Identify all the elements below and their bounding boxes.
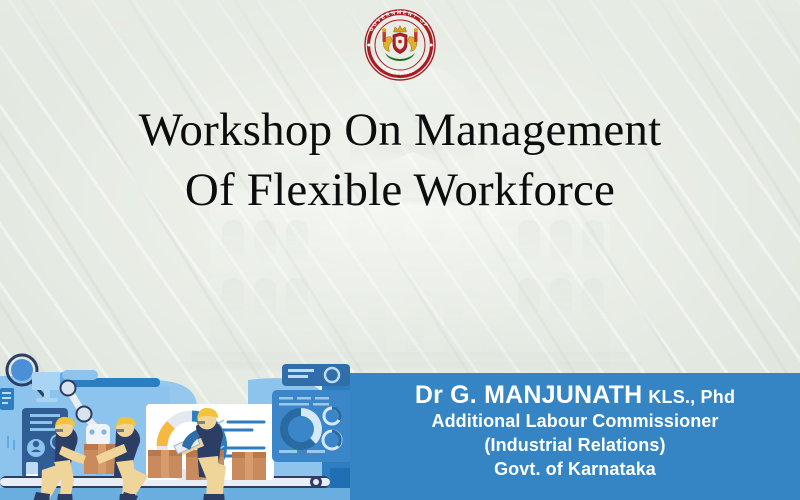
title-line-1: Workshop On Management [0,100,800,160]
industrial-workforce-illustration [0,350,372,500]
speaker-department: (Industrial Relations) [350,434,800,458]
page-title: Workshop On Management Of Flexible Workf… [0,100,800,220]
speaker-name: Dr G. MANJUNATH [415,381,643,409]
speaker-qualifications: KLS., Phd [648,387,735,407]
government-of-karnataka-emblem: GOVERNMENT OF KARNATAKA [355,3,445,81]
speaker-organization: Govt. of Karnataka [350,458,800,482]
speaker-designation: Additional Labour Commissioner [350,410,800,434]
title-line-2: Of Flexible Workforce [0,160,800,220]
speaker-name-row: Dr G. MANJUNATHKLS., Phd [350,381,800,410]
speaker-info-panel: Dr G. MANJUNATHKLS., Phd Additional Labo… [350,373,800,500]
presentation-slide: GOVERNMENT OF KARNATAKA [0,0,800,500]
